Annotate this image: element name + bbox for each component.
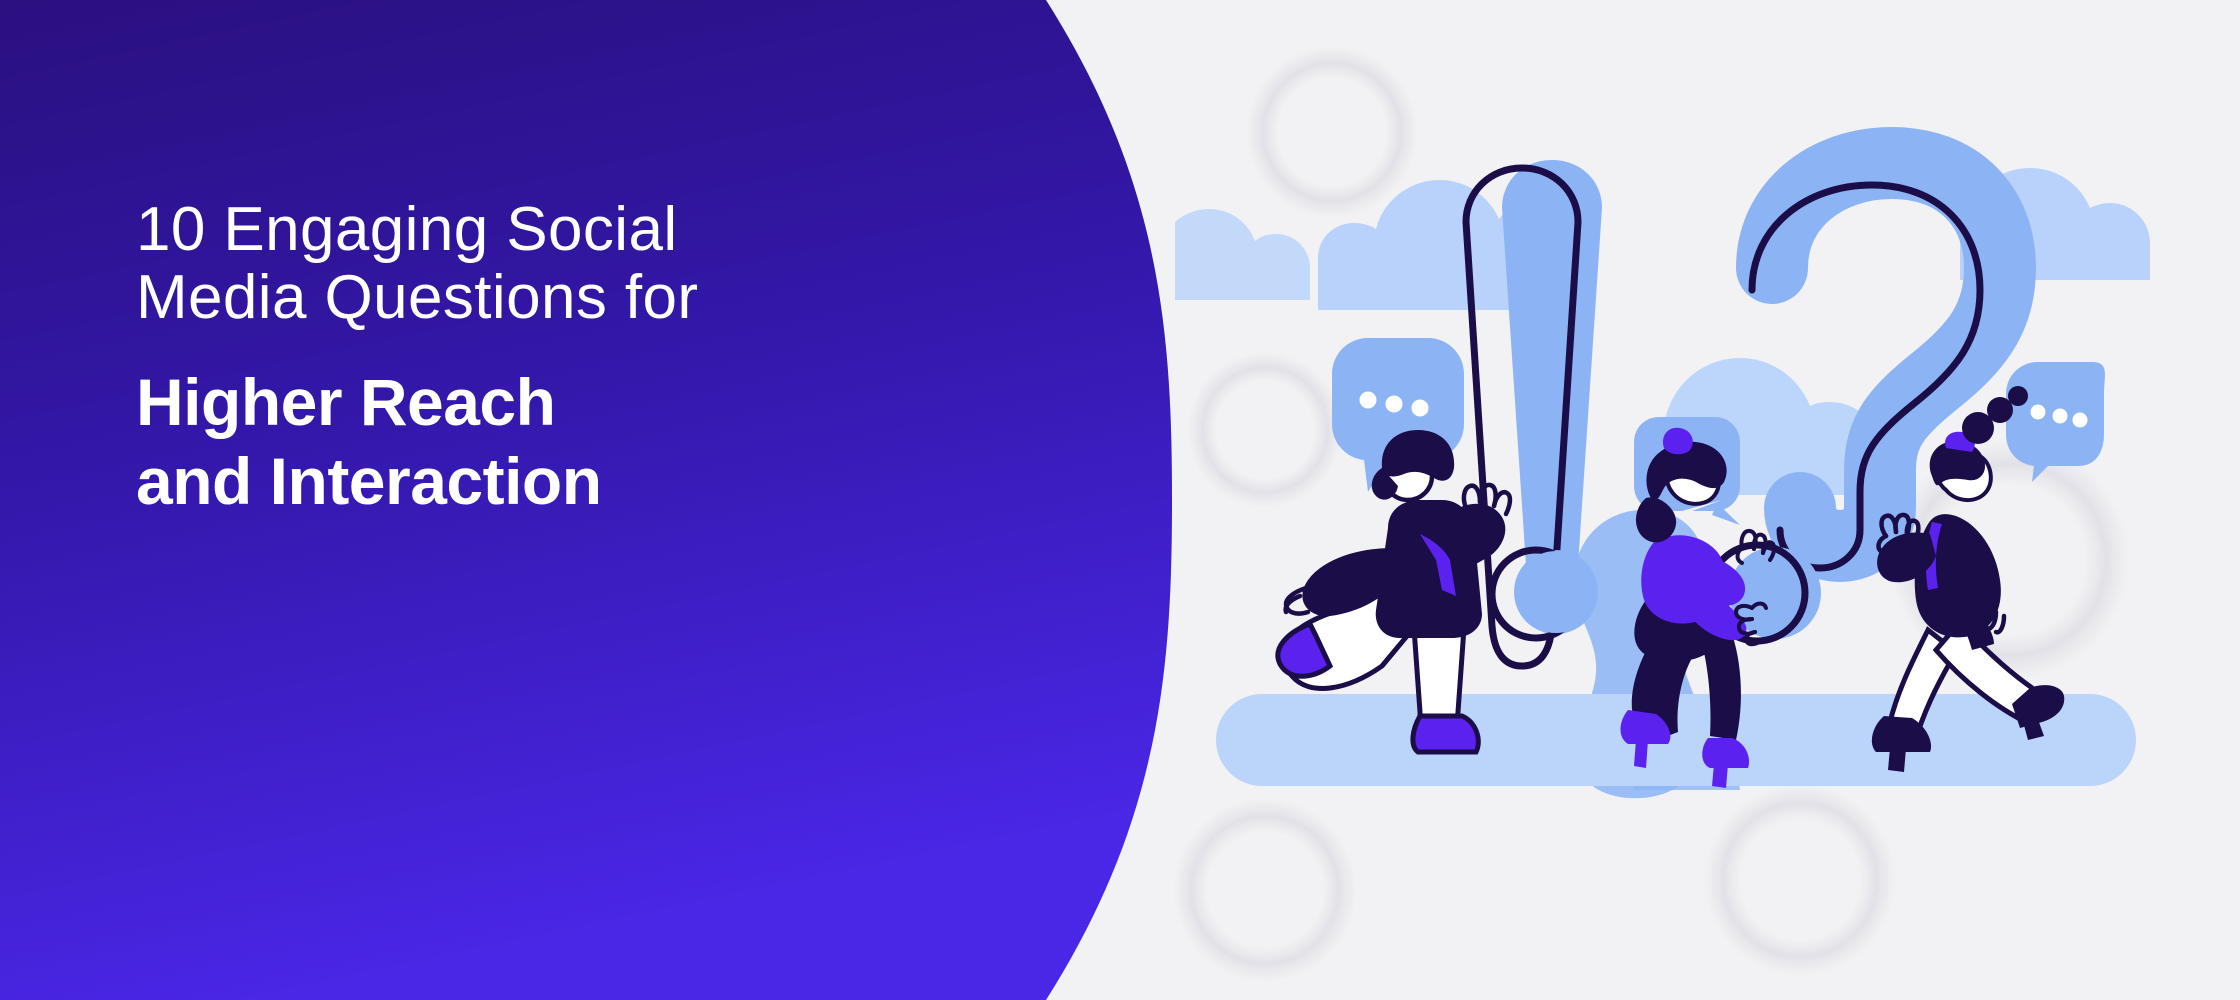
ghost-ring-top — [1246, 46, 1418, 218]
center-figure-back-heel — [1634, 740, 1648, 768]
speech-dot-1 — [1360, 392, 1377, 409]
center-figure-front-heel — [1712, 764, 1728, 788]
cloud-far-left — [1175, 209, 1310, 300]
circle-outline-left — [1515, 551, 1597, 633]
headline-bold-line-1: Higher Reach — [136, 366, 816, 439]
headline-bold-group: Higher Reach and Interaction — [136, 366, 816, 517]
headline-group: 10 Engaging Social Media Questions for H… — [136, 196, 816, 518]
left-figure-front-shoe — [1413, 716, 1478, 752]
speech-right-dot-2 — [2053, 409, 2068, 424]
speech-dot-2 — [1386, 396, 1403, 413]
speech-right-dot-3 — [2073, 413, 2088, 428]
headline-light-line-1: 10 Engaging Social — [136, 196, 816, 264]
right-figure-bun-3 — [2008, 386, 2028, 406]
ghost-ring-bottom-left — [1173, 798, 1357, 982]
circle-left-fill — [1515, 551, 1597, 633]
headline-bold-line-2: and Interaction — [136, 445, 816, 518]
right-figure-bun-2 — [1987, 397, 2013, 423]
speech-right-dot-1 — [2031, 405, 2046, 420]
right-figure-back-heel — [1888, 748, 1906, 772]
promo-banner: 10 Engaging Social Media Questions for H… — [0, 0, 2240, 1000]
ghost-ring-mid-left — [1187, 352, 1343, 508]
ghost-ring-bottom-right — [1704, 784, 1896, 976]
speech-dot-3 — [1412, 400, 1429, 417]
headline-light-line-2: Media Questions for — [136, 264, 816, 332]
